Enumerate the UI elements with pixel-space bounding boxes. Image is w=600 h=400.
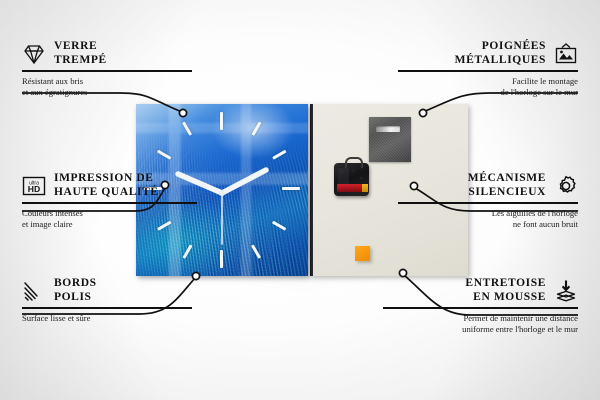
callout-title-line2: POLIS [54, 291, 92, 303]
callout-subtitle-line1: Les aiguilles de l'horloge [492, 208, 578, 218]
callout-impression-haute-qualite[interactable]: ultra HD IMPRESSION DE HAUTE QUALITÉ Cou… [22, 172, 197, 230]
metal-hanger-plate [369, 117, 411, 162]
callout-divider [22, 70, 192, 72]
callout-subtitle-line2: de l'horloge sur le mur [501, 87, 578, 97]
callout-subtitle-line2: et image claire [22, 219, 73, 229]
foam-spacer-icon [554, 279, 578, 303]
callout-title-line1: IMPRESSION DE [54, 172, 154, 184]
callout-title-line2: HAUTE QUALITÉ [54, 186, 159, 198]
callout-title-line1: MÉCANISME [468, 172, 546, 184]
ultra-hd-icon-text-bottom: HD [28, 184, 40, 194]
picture-hanger-icon [554, 42, 578, 66]
polished-edges-icon [22, 279, 46, 303]
foam-spacer [355, 246, 370, 261]
ultra-hd-icon: ultra HD [22, 174, 46, 198]
hands-hub [219, 190, 225, 196]
infographic-canvas: VERRE TREMPÉ Résistant aux bris et aux é… [0, 0, 600, 400]
clock-back-edge [310, 104, 313, 276]
gear-icon [554, 174, 578, 198]
battery-positive-terminal [362, 184, 368, 192]
mechanism-hanging-loop [345, 157, 363, 168]
callout-subtitle-line1: Couleurs intenses [22, 208, 83, 218]
callout-subtitle-line1: Surface lisse et sûre [22, 313, 91, 323]
callout-divider [22, 307, 192, 309]
callout-title-line1: ENTRETOISE [465, 277, 546, 289]
hanger-keyhole-slot [376, 126, 400, 132]
callout-subtitle-line1: Facilite le montage [512, 76, 578, 86]
callout-subtitle-line2: uniforme entre l'horloge et le mur [462, 324, 578, 334]
callout-subtitle-line2: et aux égratignures [22, 87, 87, 97]
callout-mecanisme-silencieux[interactable]: MÉCANISME SILENCIEUX Les aiguilles de l'… [398, 172, 578, 230]
callout-divider [398, 202, 578, 204]
callout-title-line2: MÉTALLIQUES [455, 54, 546, 66]
callout-title-line1: POIGNÉES [482, 40, 546, 52]
callout-divider [22, 202, 197, 204]
callout-bords-polis[interactable]: BORDS POLIS Surface lisse et sûre [22, 277, 192, 324]
diamond-icon [22, 42, 46, 66]
callout-title-line1: VERRE [54, 40, 97, 52]
callout-title-line2: SILENCIEUX [468, 186, 546, 198]
callout-subtitle-line1: Résistant aux bris [22, 76, 83, 86]
callout-divider [383, 307, 578, 309]
callout-title-line1: BORDS [54, 277, 97, 289]
mechanism-battery [337, 184, 365, 192]
callout-verre-trempe[interactable]: VERRE TREMPÉ Résistant aux bris et aux é… [22, 40, 192, 98]
minute-hand [222, 170, 266, 193]
callout-divider [398, 70, 578, 72]
callout-subtitle-line1: Permet de maintenir une distance [463, 313, 578, 323]
hanger-texture [369, 117, 411, 162]
callout-title-line2: EN MOUSSE [473, 291, 546, 303]
callout-subtitle-line2: ne font aucun bruit [513, 219, 578, 229]
callout-title-line2: TREMPÉ [54, 54, 107, 66]
callout-entretoise-en-mousse[interactable]: ENTRETOISE EN MOUSSE Permet de maintenir… [383, 277, 578, 335]
clock-mechanism [334, 163, 369, 196]
mechanism-detail [338, 168, 365, 184]
callout-poignees-metalliques[interactable]: POIGNÉES MÉTALLIQUES Facilite le montage… [398, 40, 578, 98]
